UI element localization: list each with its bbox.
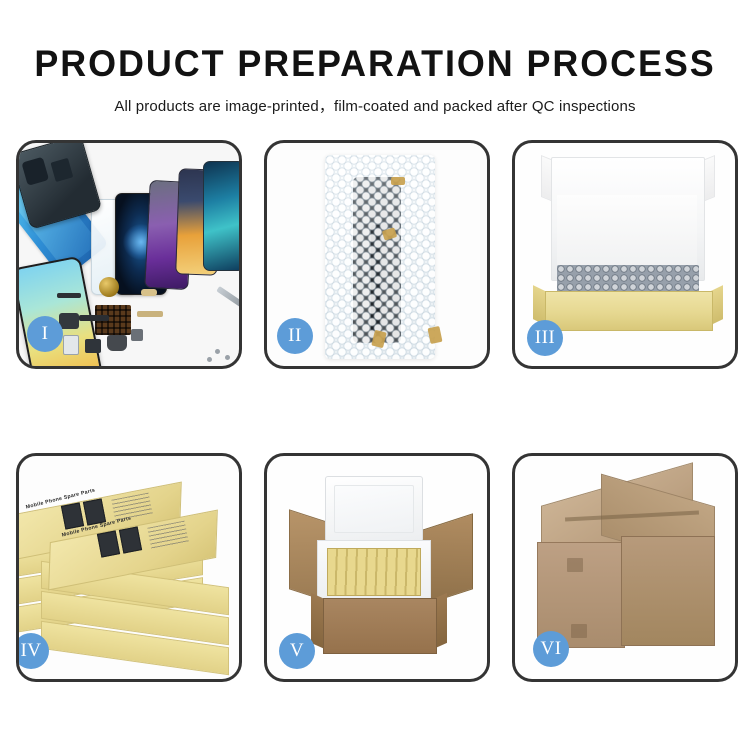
carton-hand-hole (571, 624, 587, 638)
carton-side-face (621, 536, 715, 646)
carton-front-panel (323, 598, 437, 654)
spare-part (63, 335, 79, 355)
spare-part (59, 313, 79, 329)
spare-part (137, 311, 163, 317)
vibration-motor-part (99, 277, 119, 297)
process-step-1: I (16, 140, 242, 369)
phone-chassis (19, 143, 102, 230)
packed-yellow-boxes (327, 548, 421, 596)
foam-liner (557, 195, 697, 273)
spare-part (79, 315, 109, 321)
kraft-box-base (545, 291, 713, 331)
process-step-2: II (264, 140, 490, 369)
page-title: PRODUCT PREPARATION PROCESS (11, 45, 739, 82)
step-badge-5: V (279, 633, 315, 669)
screw-part (207, 357, 212, 362)
screw-part (225, 355, 230, 360)
process-step-6: VI (512, 453, 738, 682)
process-step-5: V (264, 453, 490, 682)
spare-part (107, 335, 127, 351)
box-stack: Mobile Phone Spare Parts Mobile Phone Sp… (19, 470, 239, 679)
product-preparation-infographic: PRODUCT PREPARATION PROCESS All products… (0, 0, 750, 750)
bubble-texture (325, 155, 435, 359)
spare-part (131, 329, 143, 341)
process-step-3: III (512, 140, 738, 369)
tape-piece (391, 177, 405, 185)
step-badge-6: VI (533, 631, 569, 667)
step-badge-3: III (527, 320, 563, 356)
spare-part (141, 289, 157, 296)
carton-hand-hole (567, 558, 583, 572)
tweezers-tool (216, 286, 239, 310)
stacked-boxes-photo: Mobile Phone Spare Parts Mobile Phone Sp… (19, 456, 239, 679)
tape-piece (427, 326, 442, 344)
step-badge-2: II (277, 318, 313, 354)
header: PRODUCT PREPARATION PROCESS All products… (0, 0, 750, 116)
bubble-wrap-bag (325, 155, 435, 359)
spare-part (85, 339, 101, 353)
teal-phone (203, 161, 239, 271)
spare-part (57, 293, 81, 298)
page-subtitle: All products are image-printed，film-coat… (0, 95, 750, 116)
styrofoam-lid (325, 476, 423, 542)
process-step-4: Mobile Phone Spare Parts Mobile Phone Sp… (16, 453, 242, 682)
process-step-grid: I II (16, 140, 738, 682)
screw-part (215, 349, 220, 354)
step-badge-1: I (27, 316, 63, 352)
